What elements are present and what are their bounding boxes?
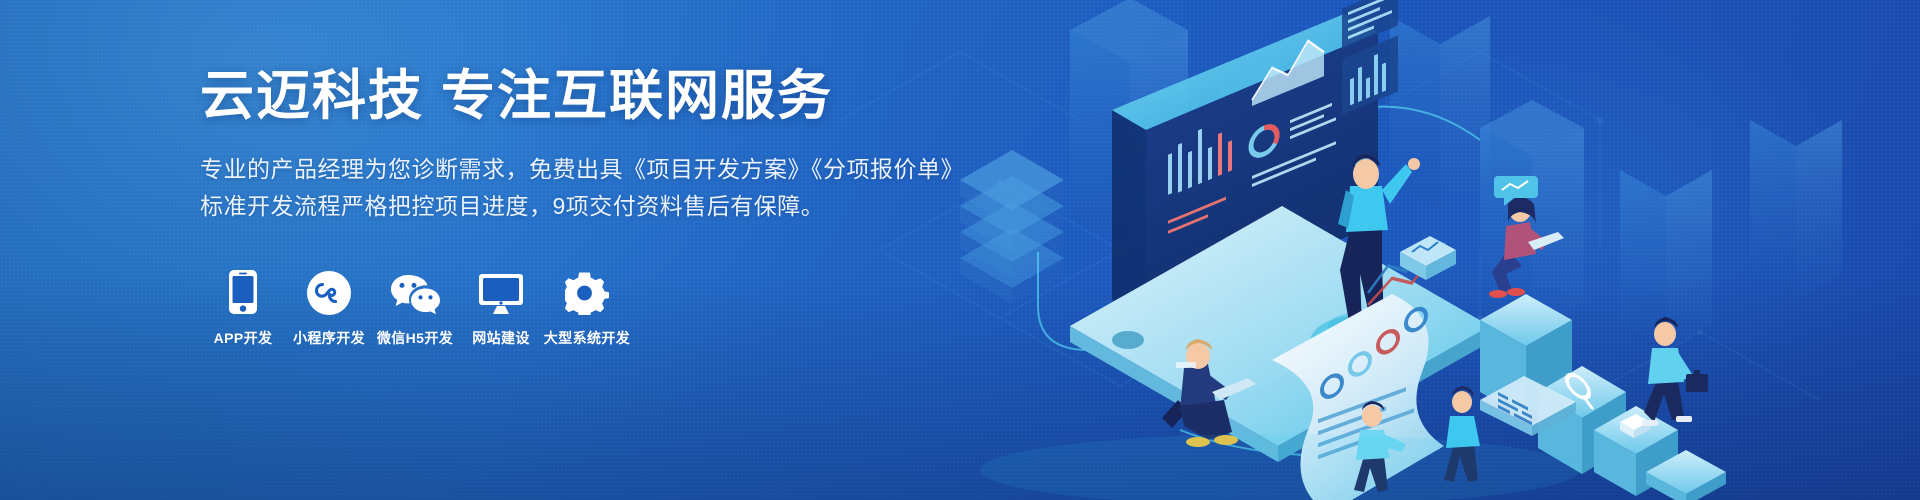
service-list: APP开发 小程序开发	[200, 269, 960, 348]
service-label: APP开发	[214, 328, 273, 348]
subtitle-line-2: 标准开发流程严格把控项目进度，9项交付资料售后有保障。	[200, 188, 960, 225]
background-line-network	[820, 0, 1920, 500]
service-label: 小程序开发	[293, 328, 365, 348]
subtitle-line-1: 专业的产品经理为您诊断需求，免费出具《项目开发方案》《分项报价单》	[200, 151, 960, 188]
service-item-wechat-h5[interactable]: 微信H5开发	[372, 269, 458, 348]
service-label: 网站建设	[472, 328, 530, 348]
mini-program-icon	[307, 269, 351, 315]
service-label: 大型系统开发	[544, 328, 630, 348]
gear-icon	[565, 269, 609, 315]
wechat-icon	[389, 269, 441, 315]
service-item-mini-program[interactable]: 小程序开发	[286, 269, 372, 348]
service-label: 微信H5开发	[377, 328, 453, 348]
mobile-phone-icon	[228, 269, 258, 315]
promo-banner: 云迈科技 专注互联网服务 专业的产品经理为您诊断需求，免费出具《项目开发方案》《…	[0, 0, 1920, 500]
background-glow-right	[1140, 0, 1920, 500]
background-isometric-towers	[920, 0, 1920, 500]
service-item-website[interactable]: 网站建设	[458, 269, 544, 348]
monitor-icon	[478, 269, 524, 315]
page-title: 云迈科技 专注互联网服务	[200, 64, 960, 129]
banner-content: 云迈科技 专注互联网服务 专业的产品经理为您诊断需求，免费出具《项目开发方案》《…	[200, 64, 960, 348]
service-item-large-system[interactable]: 大型系统开发	[544, 269, 630, 348]
service-item-app[interactable]: APP开发	[200, 269, 286, 348]
hero-illustration	[920, 0, 1920, 500]
